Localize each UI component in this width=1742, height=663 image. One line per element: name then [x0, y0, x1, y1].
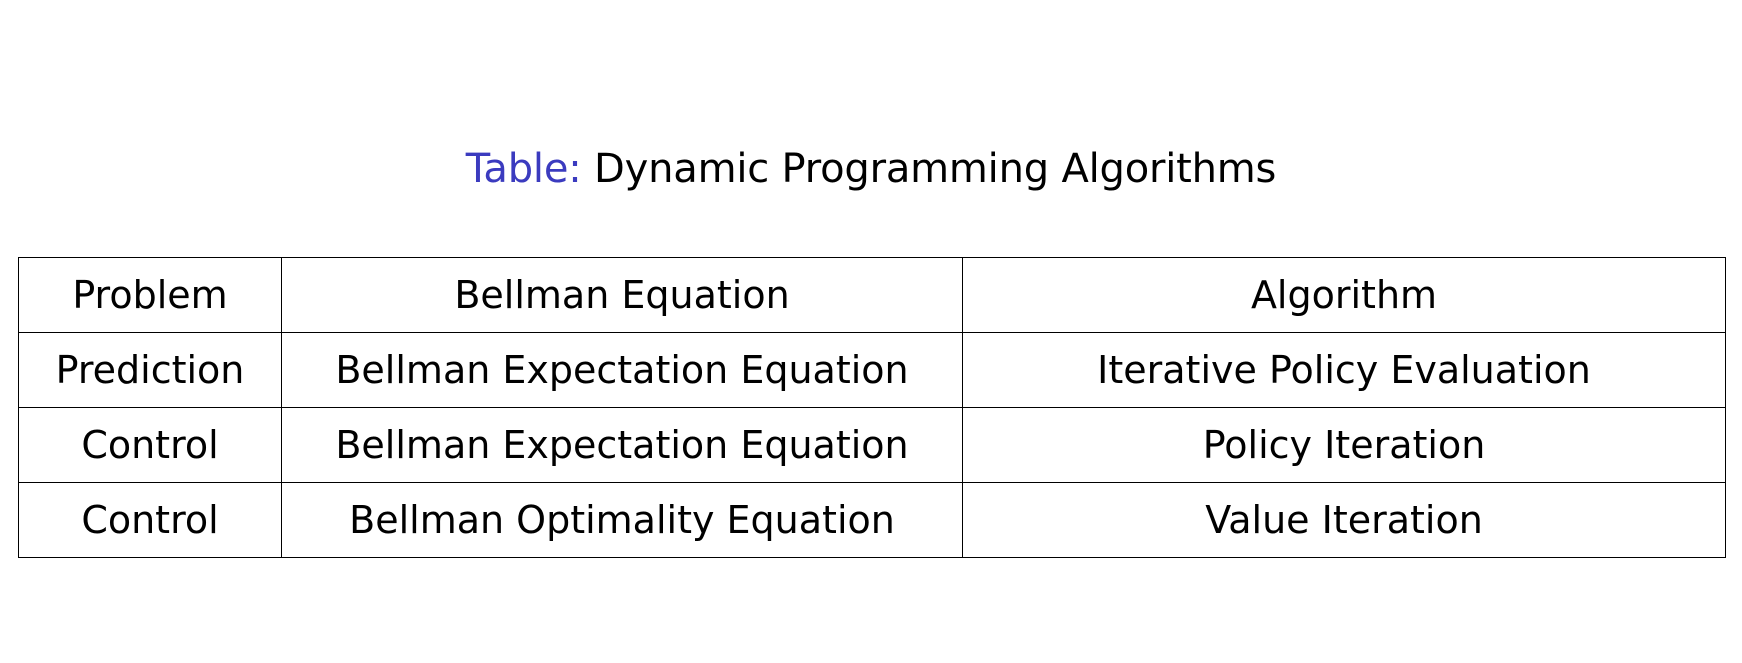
column-header-problem: Problem [19, 258, 282, 333]
table-header-row: Problem Bellman Equation Algorithm [19, 258, 1726, 333]
table-caption: Table: Dynamic Programming Algorithms [0, 143, 1742, 195]
slide-canvas: Table: Dynamic Programming Algorithms Pr… [0, 0, 1742, 663]
cell-problem: Control [19, 483, 282, 558]
table-caption-label: Table: [466, 146, 582, 192]
dynamic-programming-table: Problem Bellman Equation Algorithm Predi… [18, 257, 1726, 558]
table-row: Control Bellman Optimality Equation Valu… [19, 483, 1726, 558]
cell-algorithm: Value Iteration [963, 483, 1726, 558]
cell-equation: Bellman Optimality Equation [282, 483, 963, 558]
cell-equation: Bellman Expectation Equation [282, 408, 963, 483]
cell-equation: Bellman Expectation Equation [282, 333, 963, 408]
table-row: Control Bellman Expectation Equation Pol… [19, 408, 1726, 483]
table-row: Prediction Bellman Expectation Equation … [19, 333, 1726, 408]
cell-algorithm: Iterative Policy Evaluation [963, 333, 1726, 408]
cell-problem: Prediction [19, 333, 282, 408]
cell-problem: Control [19, 408, 282, 483]
column-header-equation: Bellman Equation [282, 258, 963, 333]
table-caption-text: Dynamic Programming Algorithms [594, 146, 1276, 192]
cell-algorithm: Policy Iteration [963, 408, 1726, 483]
column-header-algorithm: Algorithm [963, 258, 1726, 333]
